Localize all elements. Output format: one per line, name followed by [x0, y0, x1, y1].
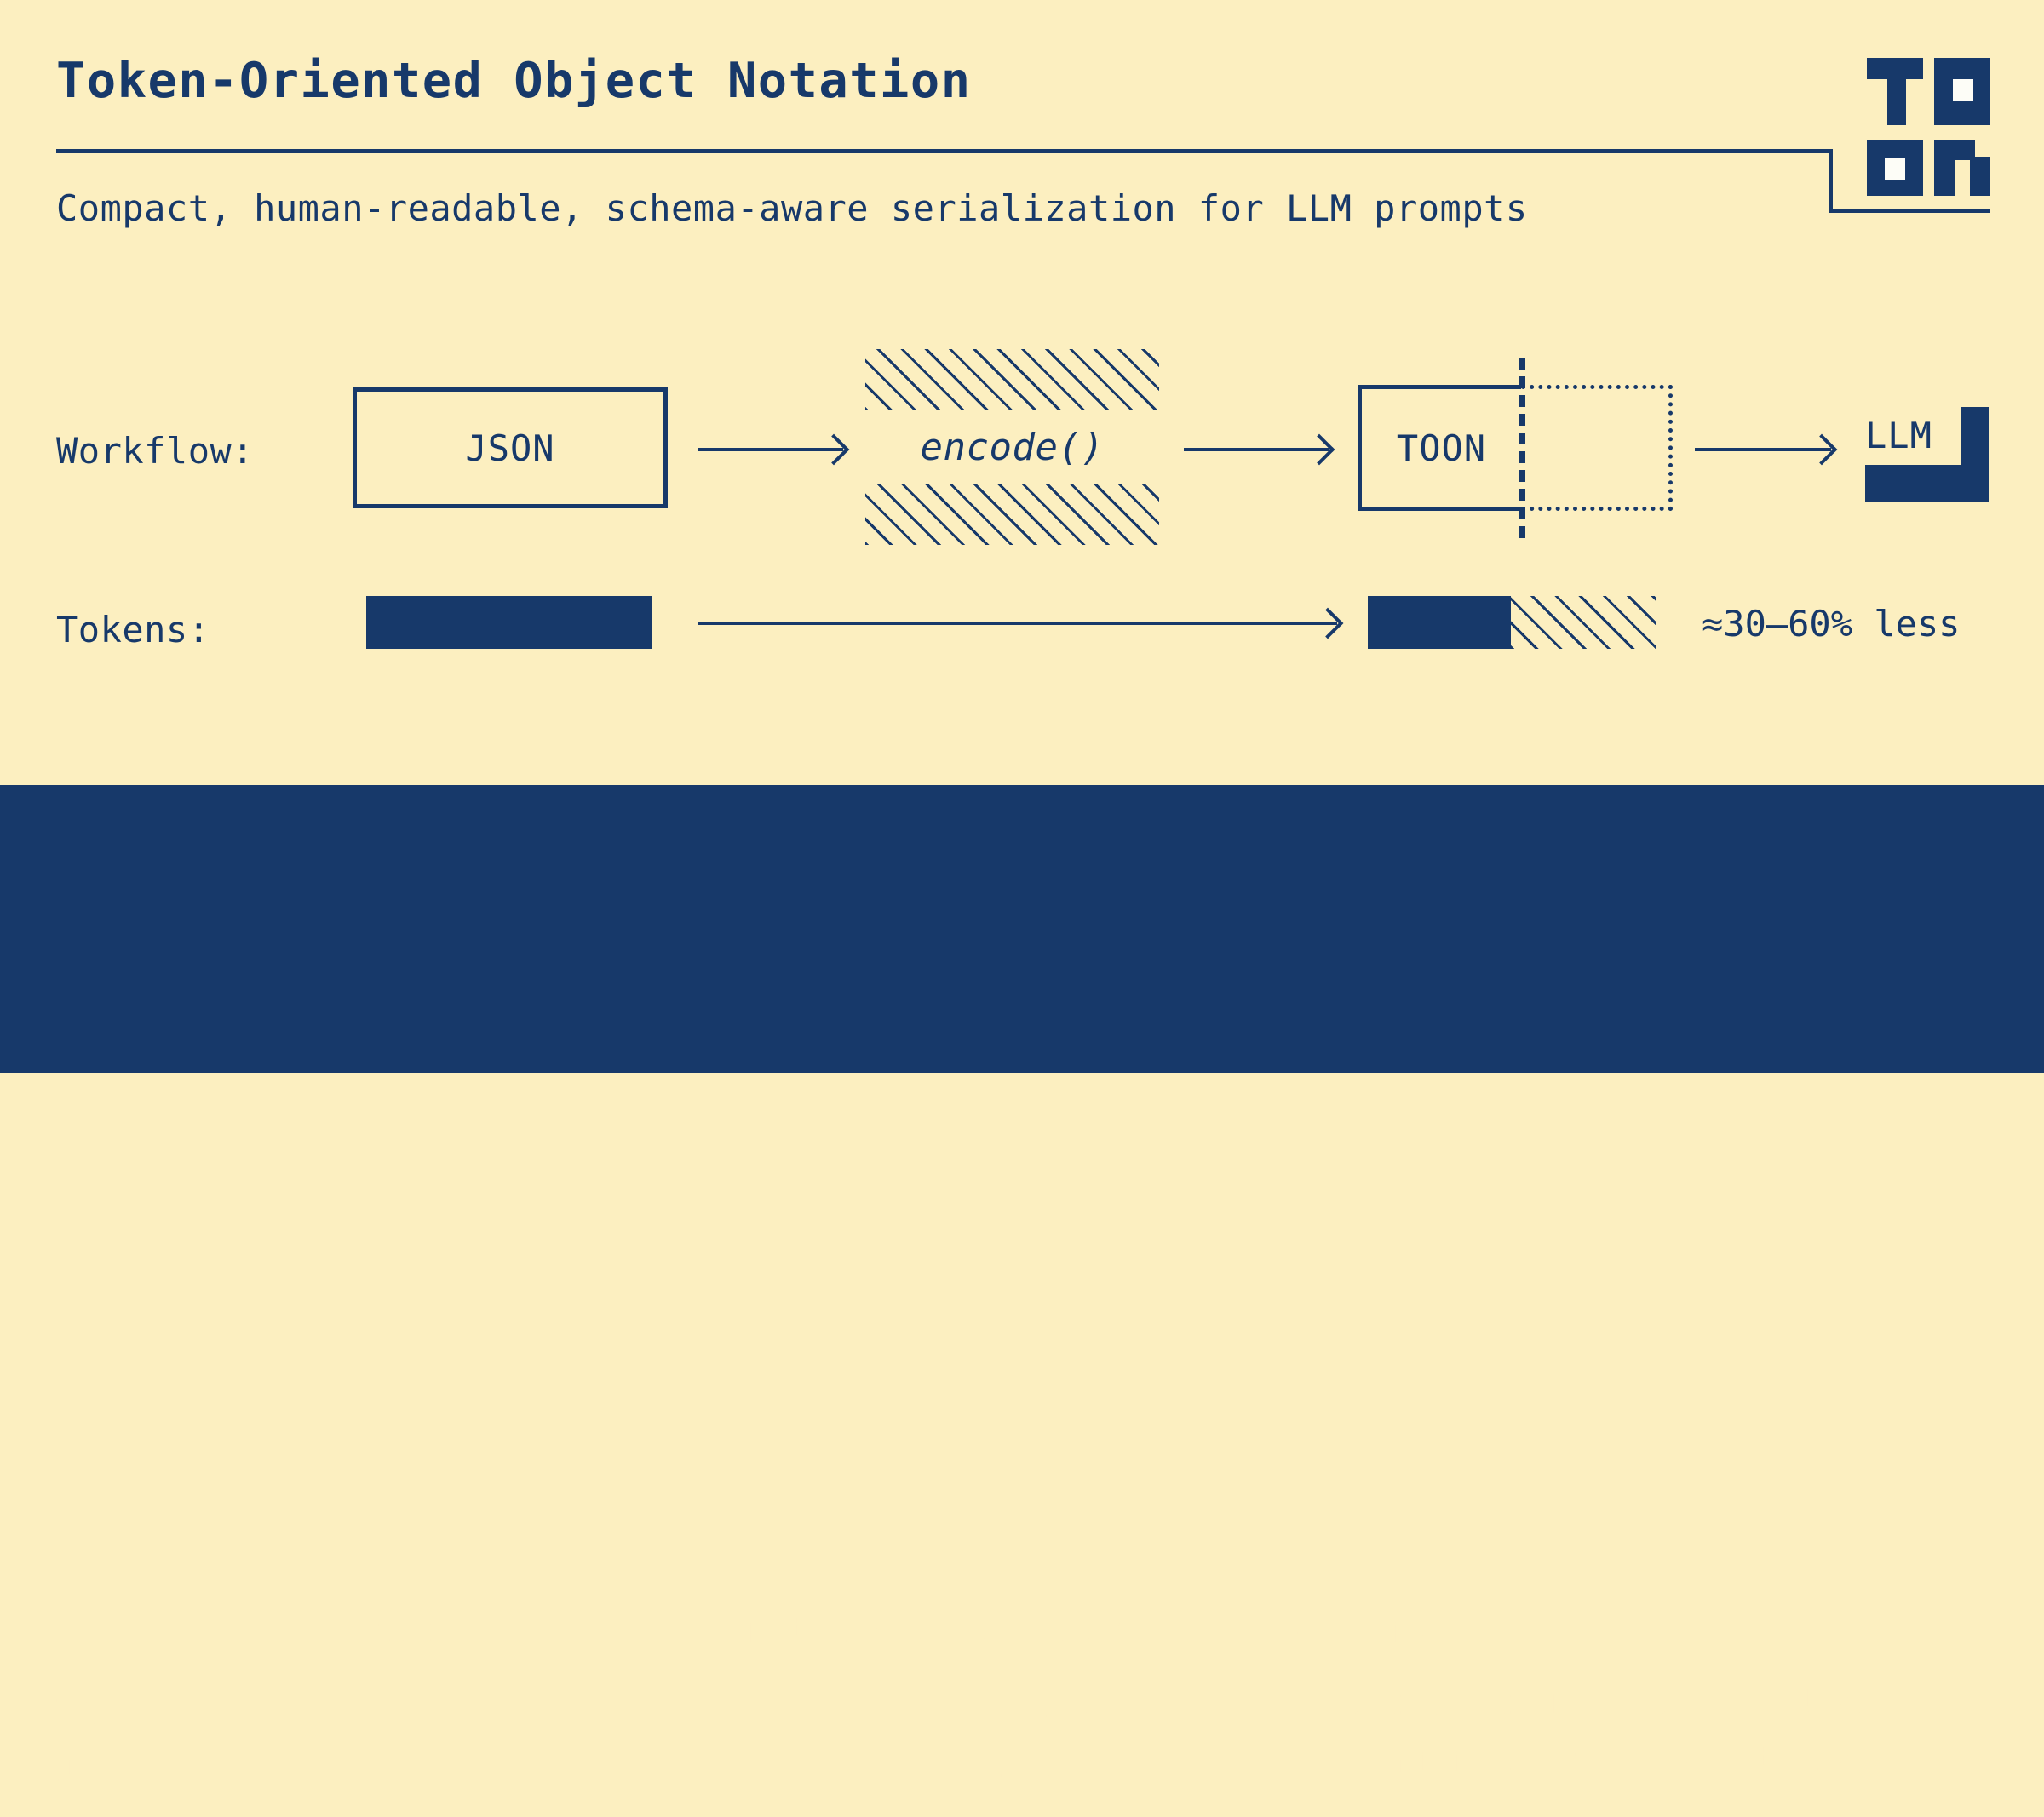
workflow-step-llm: LLM [1865, 407, 1989, 502]
bracket-tick-left [329, 1636, 361, 1641]
tokens-savings-note: ≈30–60% less [1702, 603, 1960, 645]
logo-letter-t-stem [1887, 79, 1906, 125]
bracket-edge-right [682, 1636, 686, 1817]
logo-letter-n-top [1934, 140, 1975, 160]
logo-letter-n-right [1970, 157, 1990, 196]
avg-tokens-bar-json [366, 1744, 652, 1798]
workflow-arrow-2-icon [1184, 448, 1329, 451]
header-rule-horizontal-lower [1829, 209, 1990, 213]
toon-logo-icon [1867, 58, 1990, 181]
panel-row-arrow-json-icon: → [201, 1751, 221, 1790]
bracket-edge-left [329, 1636, 333, 1817]
bracket-edge-left [703, 1636, 708, 1817]
toon-dotted-extension [1521, 385, 1673, 511]
accuracy-value-json: 69.7% [974, 1744, 1087, 1787]
best-for-group: best for repeated structure • tables var… [1237, 1636, 2003, 1817]
llm-bracket-bottom [1865, 465, 1989, 502]
workflow-arrow-1-icon [698, 448, 843, 451]
avg-tokens-title: avg tokens [375, 1611, 584, 1650]
avg-tokens-bar-toon-saved [508, 1674, 652, 1744]
avg-tokens-group: avg tokens [329, 1636, 686, 1817]
bracket-tick-right [1518, 1636, 2003, 1641]
encode-hatch-bottom [865, 484, 1159, 545]
tokens-bar-json [366, 596, 652, 649]
panel-row-label-json: JSON [56, 1750, 146, 1791]
logo-letter-o-upper [1934, 58, 1990, 125]
bracket-tick-right [1168, 1636, 1232, 1641]
panel-row-arrow-toon-icon: → [201, 1693, 221, 1732]
best-for-title: best for [1279, 1611, 1447, 1650]
retrieval-accuracy-title: retrieval accuracy [744, 1611, 1121, 1650]
retrieval-accuracy-group: retrieval accuracy 73.9% 69.7% [703, 1636, 1232, 1817]
workflow-arrow-3-icon [1695, 448, 1831, 451]
bracket-edge-right [1227, 1636, 1232, 1817]
page-subtitle: Compact, human-readable, schema-aware se… [56, 187, 1528, 229]
encode-hatch-top [865, 349, 1159, 410]
tokens-row-label: Tokens: [56, 609, 210, 651]
infographic-canvas: Token-Oriented Object Notation Compact, … [0, 0, 2044, 1073]
workflow-step-encode: encode() [865, 349, 1159, 545]
accuracy-row-json: 69.7% [743, 1744, 1087, 1787]
page-title: Token-Oriented Object Notation [56, 53, 972, 109]
bracket-edge-right [1999, 1636, 2003, 1817]
encode-label: encode() [865, 421, 1159, 473]
logo-letter-o-lower [1867, 140, 1923, 196]
toon-dashed-divider [1519, 358, 1525, 538]
header-rule-vertical [1829, 149, 1833, 213]
logo-letter-t-bar [1867, 58, 1923, 79]
toon-label: TOON [1358, 385, 1521, 511]
best-for-line-json: varying fields • deep trees [1272, 1739, 1865, 1780]
panel-row-label-toon: TOON [56, 1692, 146, 1734]
comparison-panel: TOON → JSON → avg tokens retrieval accur… [0, 785, 2044, 1073]
avg-tokens-bar-toon [366, 1674, 508, 1744]
accuracy-arrow-toon-icon [756, 1703, 908, 1709]
bracket-tick-right [629, 1636, 686, 1641]
tokens-bar-toon-saved [1511, 596, 1656, 649]
accuracy-value-toon: 73.9% [974, 1684, 1087, 1728]
workflow-step-json: JSON [353, 387, 668, 508]
workflow-row-label: Workflow: [56, 430, 254, 472]
accuracy-arrow-json-icon [756, 1763, 884, 1768]
tokens-arrow-icon [698, 622, 1337, 625]
bracket-edge-left [1237, 1636, 1241, 1817]
workflow-step-toon: TOON [1358, 385, 1673, 511]
accuracy-row-toon: 73.9% [743, 1684, 1087, 1728]
header-rule-horizontal [56, 149, 1833, 153]
tokens-bar-toon-solid [1368, 596, 1511, 649]
best-for-line-toon: repeated structure • tables [1272, 1681, 1865, 1722]
llm-label: LLM [1865, 407, 1967, 463]
